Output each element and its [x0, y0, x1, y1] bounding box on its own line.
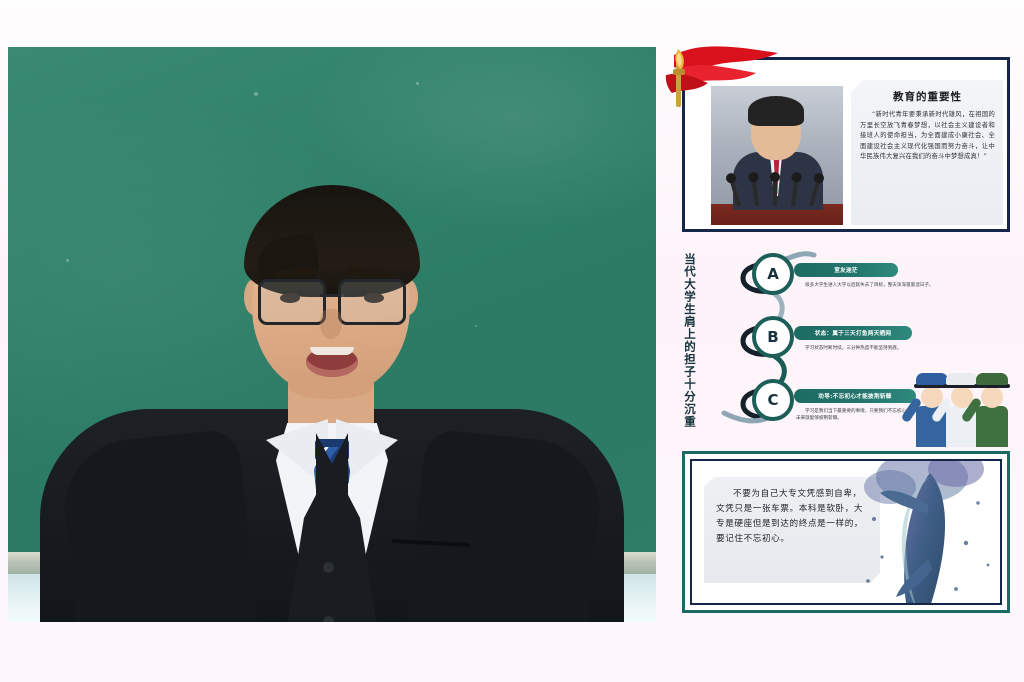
- item-description-b: 学习状态时断时续，三分钟热度不能坚持到底。: [796, 345, 952, 352]
- speaker-video[interactable]: chalkboard-classroom: [8, 47, 656, 622]
- saluting-soldiers-icon: 三位敬礼的军人卡通形象: [914, 355, 1018, 447]
- student-burden-slide[interactable]: 当代大学生肩上的担子十分沉重 A 室友迷茫 很多大学生进入大学以后就失去了目标，…: [674, 243, 1018, 451]
- item-marker-a: A: [752, 253, 794, 295]
- watercolor-whale-icon: [856, 459, 1002, 605]
- education-text-card: 教育的重要性 “新时代青年要秉承新时代雄风，在祖国的万里长空放飞青春梦想，以社会…: [851, 80, 1003, 225]
- presenter-figure: [52, 151, 612, 622]
- screen-stage: chalkboard-classroom 领导人讲台演讲照片: [0, 0, 1024, 682]
- diploma-quote-slide[interactable]: 不要为自己大专文凭感到自卑，文凭只是一张车票。本科是软卧，大专是硬座但是到达的终…: [682, 451, 1010, 613]
- illustration-label: 三位敬礼的军人卡通形象: [914, 355, 915, 356]
- shoulder-left: [58, 428, 262, 622]
- red-flag-torch-icon: [652, 45, 784, 107]
- item-ribbon-b[interactable]: 状态：属于三天打鱼两天晒网: [794, 326, 912, 340]
- slide-title: 教育的重要性: [860, 89, 995, 104]
- shoulder-right: [402, 428, 606, 622]
- teeth: [310, 347, 354, 355]
- item-description-a: 很多大学生进入大学以后就失去了目标，整天浑浑噩噩混日子。: [796, 282, 952, 289]
- slide-body-text: “新时代青年要秉承新时代雄风，在祖国的万里长空放飞青春梦想，以社会主义建设者和接…: [860, 110, 995, 163]
- slide-column: 领导人讲台演讲照片 教育的重要性 “新时代青年要秉承新时代雄风，在祖国的万里长空…: [662, 47, 1018, 622]
- nose: [320, 309, 342, 339]
- jacket-button: [324, 563, 333, 572]
- jacket-button: [324, 617, 333, 622]
- item-ribbon-c[interactable]: 劝导:不忘初心才能披荆斩棘: [794, 389, 916, 403]
- item-marker-c: C: [752, 379, 794, 421]
- quote-card: 不要为自己大专文凭感到自卑，文凭只是一张车票。本科是软卧，大专是硬座但是到达的终…: [704, 477, 880, 583]
- quote-text: 不要为自己大专文凭感到自卑，文凭只是一张车票。本科是软卧，大专是硬座但是到达的终…: [716, 487, 870, 547]
- item-marker-b: B: [752, 316, 794, 358]
- item-ribbon-a[interactable]: 室友迷茫: [794, 263, 898, 277]
- illustration-label: 水彩鲸鱼插画: [692, 461, 693, 462]
